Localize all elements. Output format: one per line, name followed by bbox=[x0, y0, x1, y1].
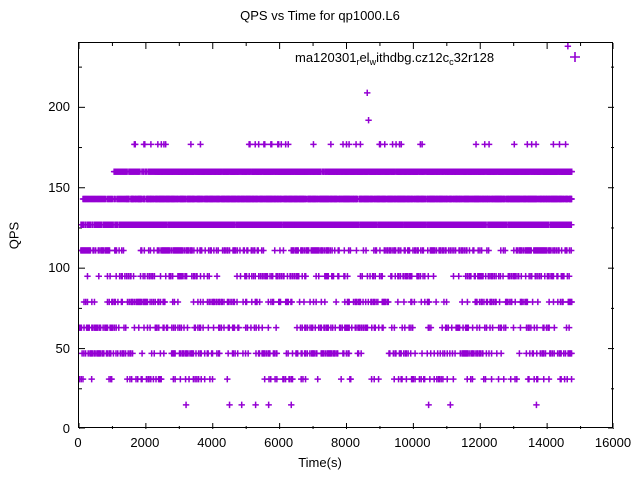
data-point bbox=[501, 376, 507, 382]
y-axis-tick-label: 200 bbox=[10, 100, 70, 113]
x-axis-tick-label: 16000 bbox=[573, 436, 640, 449]
data-point bbox=[139, 350, 145, 356]
data-point bbox=[322, 299, 328, 305]
data-point bbox=[338, 376, 344, 382]
data-point bbox=[365, 117, 371, 123]
data-point bbox=[498, 350, 504, 356]
data-point bbox=[142, 141, 148, 147]
data-point bbox=[310, 141, 316, 147]
data-point bbox=[226, 402, 232, 408]
page-title: QPS vs Time for qp1000.L6 bbox=[0, 8, 640, 24]
data-point bbox=[425, 402, 431, 408]
data-point bbox=[486, 141, 492, 147]
data-point bbox=[88, 376, 94, 382]
data-point bbox=[511, 141, 517, 147]
data-point bbox=[273, 324, 279, 330]
data-point bbox=[550, 141, 556, 147]
y-axis-tick-label: 0 bbox=[10, 422, 70, 435]
qps-scatter-chart: QPS vs Time for qp1000.L6 050100150200 0… bbox=[0, 0, 640, 480]
data-point bbox=[568, 376, 574, 382]
legend-plus-marker-icon bbox=[568, 50, 582, 64]
legend-label-subscript: c bbox=[449, 57, 454, 67]
data-point bbox=[303, 273, 309, 279]
data-point bbox=[380, 324, 386, 330]
data-point bbox=[395, 299, 401, 305]
data-point bbox=[188, 141, 194, 147]
data-point bbox=[197, 141, 203, 147]
data-point bbox=[516, 350, 522, 356]
data-point bbox=[375, 376, 381, 382]
data-point bbox=[315, 376, 321, 382]
data-point bbox=[333, 299, 339, 305]
data-point bbox=[353, 247, 359, 253]
plot-canvas bbox=[79, 43, 614, 429]
data-point bbox=[433, 299, 439, 305]
data-point bbox=[265, 402, 271, 408]
data-point bbox=[289, 299, 295, 305]
legend-label-segment: el bbox=[359, 50, 369, 65]
data-point bbox=[148, 141, 154, 147]
legend-label-segment: ma120301 bbox=[295, 50, 356, 65]
x-axis-title: Time(s) bbox=[0, 455, 640, 470]
data-point bbox=[357, 141, 363, 147]
data-point bbox=[224, 376, 230, 382]
data-point bbox=[412, 350, 418, 356]
data-point bbox=[456, 273, 462, 279]
data-point bbox=[161, 350, 167, 356]
data-point bbox=[510, 324, 516, 330]
legend-label: ma120301relwithdbg.cz12cc32r128 bbox=[295, 50, 494, 67]
data-point bbox=[288, 402, 294, 408]
data-point bbox=[444, 376, 450, 382]
data-point bbox=[214, 273, 220, 279]
data-point bbox=[534, 376, 540, 382]
plot-area bbox=[78, 42, 613, 428]
data-point bbox=[517, 324, 523, 330]
data-point bbox=[328, 141, 334, 147]
data-point bbox=[265, 324, 271, 330]
data-point bbox=[280, 247, 286, 253]
data-point bbox=[447, 402, 453, 408]
legend: ma120301relwithdbg.cz12cc32r128 bbox=[295, 48, 494, 68]
data-point bbox=[473, 141, 479, 147]
data-point bbox=[556, 141, 562, 147]
data-point bbox=[496, 299, 502, 305]
data-point bbox=[239, 402, 245, 408]
data-point bbox=[262, 141, 268, 147]
data-point bbox=[464, 299, 470, 305]
data-point bbox=[175, 299, 181, 305]
data-point bbox=[183, 402, 189, 408]
data-point bbox=[535, 299, 541, 305]
legend-label-subscript: w bbox=[370, 57, 377, 67]
data-point bbox=[301, 299, 307, 305]
data-point bbox=[184, 324, 190, 330]
data-point bbox=[259, 324, 265, 330]
data-point bbox=[562, 141, 568, 147]
data-point bbox=[551, 324, 557, 330]
legend-label-segment: ithdbg.cz12c bbox=[376, 50, 449, 65]
data-point bbox=[84, 273, 90, 279]
data-point bbox=[450, 376, 456, 382]
y-axis-tick-label: 150 bbox=[10, 181, 70, 194]
legend-label-segment: 32r128 bbox=[454, 50, 494, 65]
data-point bbox=[533, 141, 539, 147]
data-point-layer bbox=[79, 43, 575, 408]
data-point bbox=[348, 376, 354, 382]
data-point bbox=[430, 273, 436, 279]
data-point bbox=[269, 141, 275, 147]
data-point bbox=[488, 376, 494, 382]
data-point bbox=[236, 324, 242, 330]
data-point bbox=[401, 299, 407, 305]
y-axis-title: QPS bbox=[7, 206, 22, 266]
axis-tick-marks bbox=[79, 43, 614, 429]
y-axis-tick-label: 50 bbox=[10, 342, 70, 355]
data-point bbox=[546, 376, 552, 382]
data-point bbox=[132, 141, 138, 147]
data-point bbox=[364, 90, 370, 96]
data-point bbox=[96, 273, 102, 279]
data-point bbox=[533, 402, 539, 408]
data-point bbox=[382, 141, 388, 147]
data-point bbox=[252, 402, 258, 408]
data-point bbox=[565, 43, 571, 49]
